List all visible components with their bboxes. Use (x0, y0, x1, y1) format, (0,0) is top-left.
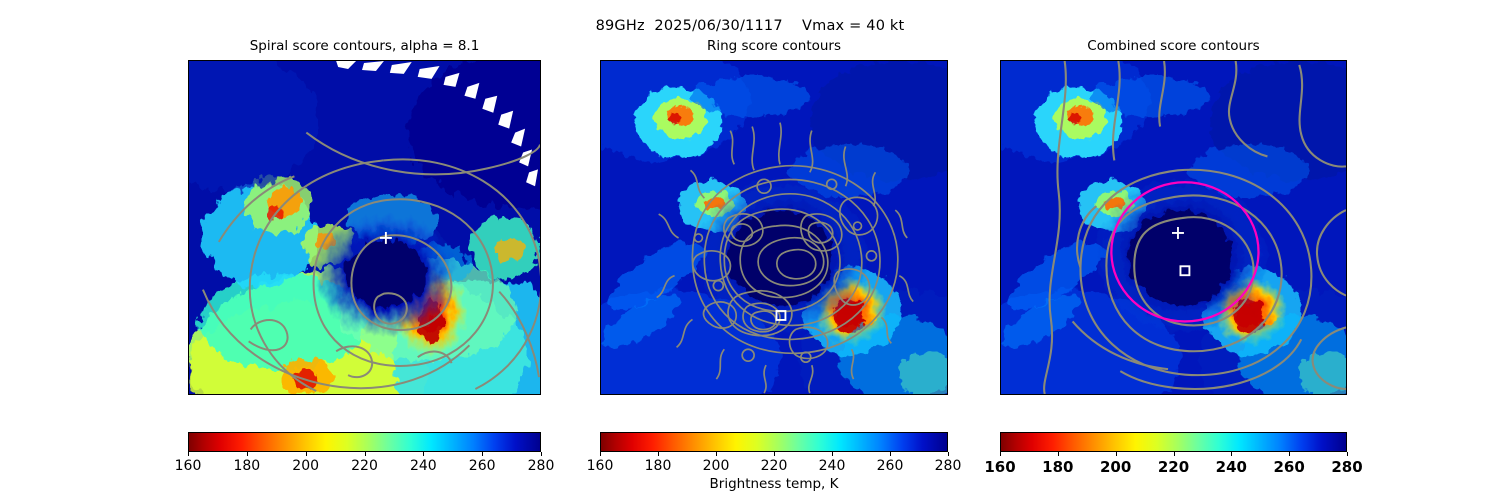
colorbar-tick-label: 280 (1331, 458, 1362, 476)
x-tick-mark (375, 394, 376, 395)
colorbar-tick-mark (1058, 452, 1059, 456)
panel-spiral-score: Spiral score contours, alpha = 8.1 (188, 60, 541, 395)
panel-combined-axes[interactable]: −104.0−103.5−103.0−102.5−102.0−101.5−101… (1000, 60, 1347, 395)
panel-combined-title: Combined score contours (1000, 38, 1347, 54)
panel-ring-overlay: −104.0−103.5−103.0−102.5−102.0−101.5−101… (601, 61, 947, 394)
y-tick-mark (1000, 272, 1001, 273)
x-tick-mark (1326, 394, 1327, 395)
colorbar-ring: 160180200220240260280 (600, 432, 948, 452)
y-tick-mark (1000, 372, 1001, 373)
x-tick-mark (672, 394, 673, 395)
panel-combined-score: Combined score contours (1000, 60, 1347, 395)
x-tick-mark (1224, 394, 1225, 395)
colorbar-gradient-combined[interactable] (1000, 432, 1347, 452)
y-tick-mark (188, 188, 189, 189)
x-tick-mark (1021, 394, 1022, 395)
x-tick-mark (723, 394, 724, 395)
colorbar-tick-mark (832, 452, 833, 456)
colorbar-tick-label: 240 (1216, 458, 1247, 476)
colorbar-tick-label: 240 (410, 458, 437, 474)
colorbar-tick-label: 180 (1042, 458, 1073, 476)
colorbar-tick-label: 240 (819, 458, 846, 474)
colorbar-tick-mark (1116, 452, 1117, 456)
y-tick-mark (600, 372, 601, 373)
panel-spiral-overlay: −104−103−102−101−1001314151617 (189, 61, 540, 394)
x-tick-mark (307, 394, 308, 395)
colorbar-tick-label: 200 (292, 458, 319, 474)
colorbar-tick-label: 260 (877, 458, 904, 474)
panel-ring-title: Ring score contours (600, 38, 948, 54)
colorbar-tick-label: 180 (645, 458, 672, 474)
y-tick-mark (600, 173, 601, 174)
x-tick-mark (774, 394, 775, 395)
colorbar-tick-mark (890, 452, 891, 456)
y-tick-mark (188, 319, 189, 320)
colorbar-tick-label: 180 (233, 458, 260, 474)
y-tick-mark (188, 123, 189, 124)
colorbar-tick-label: 220 (761, 458, 788, 474)
colorbar-tick-label: 280 (528, 458, 555, 474)
y-tick-mark (1000, 73, 1001, 74)
x-tick-mark (1072, 394, 1073, 395)
x-tick-mark (1275, 394, 1276, 395)
x-tick-mark (1123, 394, 1124, 395)
colorbar-tick-mark (306, 452, 307, 456)
colorbar-gradient-ring[interactable] (600, 432, 948, 452)
colorbar-spiral: 160180200220240260280 (188, 432, 541, 452)
panel-ring-axes[interactable]: −104.0−103.5−103.0−102.5−102.0−101.5−101… (600, 60, 948, 395)
colorbar-tick-label: 200 (703, 458, 730, 474)
colorbar-tick-label: 160 (984, 458, 1015, 476)
colorbar-tick-mark (1174, 452, 1175, 456)
colorbar-axis-label: Brightness temp, K (600, 476, 948, 492)
panel-spiral-title: Spiral score contours, alpha = 8.1 (188, 38, 541, 54)
panel-spiral-axes[interactable]: −104−103−102−101−1001314151617 (188, 60, 541, 395)
colorbar-tick-mark (247, 452, 248, 456)
y-tick-mark (1000, 223, 1001, 224)
figure-suptitle: 89GHz 2025/06/30/1117 Vmax = 40 kt (0, 18, 1500, 34)
figure-canvas: 89GHz 2025/06/30/1117 Vmax = 40 kt Spira… (0, 0, 1500, 500)
y-tick-mark (600, 73, 601, 74)
colorbar-tick-mark (482, 452, 483, 456)
y-tick-mark (600, 272, 601, 273)
colorbar-tick-mark (716, 452, 717, 456)
colorbar-tick-mark (1289, 452, 1290, 456)
y-tick-mark (600, 322, 601, 323)
colorbar-tick-mark (1347, 452, 1348, 456)
y-tick-mark (188, 254, 189, 255)
y-tick-mark (1000, 123, 1001, 124)
colorbar-tick-mark (1231, 452, 1232, 456)
colorbar-tick-label: 220 (351, 458, 378, 474)
x-tick-mark (927, 394, 928, 395)
y-tick-mark (600, 223, 601, 224)
colorbar-tick-label: 280 (935, 458, 962, 474)
colorbar-tick-mark (541, 452, 542, 456)
colorbar-combined: 160180200220240260280 (1000, 432, 1347, 452)
y-tick-mark (1000, 322, 1001, 323)
x-tick-mark (825, 394, 826, 395)
colorbar-tick-mark (188, 452, 189, 456)
colorbar-gradient-spiral[interactable] (188, 432, 541, 452)
colorbar-tick-label: 200 (1100, 458, 1131, 476)
colorbar-tick-mark (365, 452, 366, 456)
colorbar-tick-mark (600, 452, 601, 456)
x-tick-mark (1174, 394, 1175, 395)
x-tick-mark (510, 394, 511, 395)
y-tick-mark (188, 384, 189, 385)
y-tick-mark (600, 123, 601, 124)
x-tick-mark (240, 394, 241, 395)
colorbar-tick-label: 260 (1274, 458, 1305, 476)
colorbar-tick-label: 220 (1158, 458, 1189, 476)
colorbar-tick-mark (774, 452, 775, 456)
colorbar-tick-label: 260 (469, 458, 496, 474)
colorbar-tick-mark (423, 452, 424, 456)
panel-ring-score: Ring score contours (600, 60, 948, 395)
x-tick-mark (876, 394, 877, 395)
y-tick-mark (1000, 173, 1001, 174)
panel-combined-overlay: −104.0−103.5−103.0−102.5−102.0−101.5−101… (1001, 61, 1346, 394)
x-tick-mark (621, 394, 622, 395)
colorbar-tick-label: 160 (587, 458, 614, 474)
colorbar-tick-mark (948, 452, 949, 456)
colorbar-tick-label: 160 (175, 458, 202, 474)
colorbar-tick-mark (658, 452, 659, 456)
colorbar-tick-mark (1000, 452, 1001, 456)
x-tick-mark (442, 394, 443, 395)
